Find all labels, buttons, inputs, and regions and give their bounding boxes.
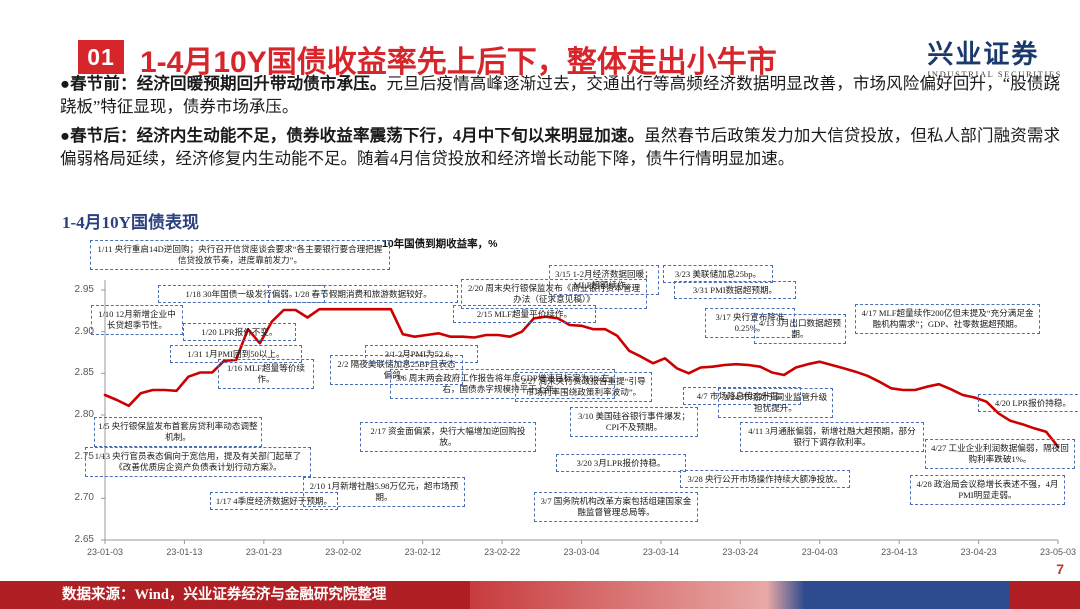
chart-annotation-box: 1/11 央行重启14D逆回购；央行召开信贷座谈会要求“各主要银行要合理把握信贷… xyxy=(90,240,390,270)
y-axis-tick-label: 2.80 xyxy=(60,409,94,420)
chart-annotation-box: 1/10 12月新增企业中长贷超季节性。 xyxy=(91,305,183,335)
chart-area: 2.652.702.752.802.852.902.9523-01-0323-0… xyxy=(60,232,1060,572)
chart-annotation-box: 4/20 LPR报价持稳。 xyxy=(978,394,1080,412)
x-axis-tick-label: 23-01-13 xyxy=(149,547,219,557)
x-axis-tick-label: 23-03-24 xyxy=(705,547,775,557)
y-axis-tick-label: 2.90 xyxy=(60,326,94,337)
x-axis-tick-label: 23-01-23 xyxy=(229,547,299,557)
paragraph-2-bold: 经济内生动能不足，债券收益率震荡下行，4月中下旬以来明显加速。 xyxy=(137,126,645,145)
chart-annotation-box: 3/20 3月LPR报价持稳。 xyxy=(556,454,686,472)
chart-annotation-box: 3/28 央行公开市场操作持续大额净投放。 xyxy=(680,470,850,488)
chart-annotation-box: 3/31 PMI数据超预期。 xyxy=(674,281,796,299)
paragraph-2-label: ●春节后： xyxy=(60,126,137,145)
chart-annotation-box: 4/13 3月出口数据超预期。 xyxy=(754,314,846,344)
chart-annotation-box: 1/5 央行银保监发布首套房贷利率动态调整机制。 xyxy=(94,417,262,447)
chart-annotation-box: 2/17 资金面偏紧，央行大幅增加逆回购投放。 xyxy=(360,422,536,452)
chart-annotation-box: 1/16 MLF超量等价续作。 xyxy=(218,359,314,389)
chart-annotation-box: 2/10 1月新增社融5.98万亿元，超市场预期。 xyxy=(303,477,465,507)
chart-annotation-box: 1/28 春节假期消费和旅游数据较好。 xyxy=(268,285,458,303)
x-axis-tick-label: 23-03-04 xyxy=(547,547,617,557)
paragraph-1-label: ●春节前： xyxy=(60,74,137,93)
x-axis-tick-label: 23-04-03 xyxy=(785,547,855,557)
chart-annotation-box: 3/7 国务院机构改革方案包括组建国家金融监督管理总局等。 xyxy=(534,492,698,522)
x-axis-tick-label: 23-05-03 xyxy=(1023,547,1080,557)
y-axis-tick-label: 2.95 xyxy=(60,284,94,295)
chart-annotation-box: 3/15 1-2月经济数据回暖；MLF超额续作。 xyxy=(549,265,659,295)
footer-accent-stripe xyxy=(470,581,1010,609)
chart-annotation-box: 3/10 美国硅谷银行事件爆发；CPI不及预期。 xyxy=(570,407,698,437)
paragraph-1-bold: 经济回暖预期回升带动债市承压。 xyxy=(137,74,387,93)
source-note: 数据来源：Wind，兴业证券经济与金融研究院整理 xyxy=(62,583,386,604)
chart-subtitle: 1-4月10Y国债表现 xyxy=(62,208,199,233)
x-axis-tick-label: 23-04-13 xyxy=(864,547,934,557)
y-axis-tick-label: 2.65 xyxy=(60,534,94,545)
paragraph-before-spring-festival: ●春节前：经济回暖预期回升带动债市承压。元旦后疫情高峰逐渐过去，交通出行等高频经… xyxy=(60,72,1060,119)
x-axis-tick-label: 23-02-02 xyxy=(308,547,378,557)
chart-annotation-box: 4/28 政治局会议稳增长表述不强，4月PMI明显走弱。 xyxy=(910,475,1065,505)
y-axis-tick-label: 2.70 xyxy=(60,492,94,503)
x-axis-tick-label: 23-03-14 xyxy=(626,547,696,557)
x-axis-tick-label: 23-02-12 xyxy=(388,547,458,557)
chart-annotation-box: 3/24 市场对于同业监管升级担忧提升。 xyxy=(718,388,833,418)
chart-annotation-box: 1/20 LPR报价不变。 xyxy=(183,323,296,341)
chart-annotation-box: 3/1 2月PMI为52.6。 xyxy=(365,345,478,363)
chart-annotation-box: 1/13 央行官员表态偏向于宽信用，提及有关部门起草了《改善优质房企资产负债表计… xyxy=(85,447,311,477)
page-number: 7 xyxy=(1056,561,1064,577)
x-axis-tick-label: 23-04-23 xyxy=(944,547,1014,557)
x-axis-tick-label: 23-02-22 xyxy=(467,547,537,557)
chart-annotation-box: 4/27 工业企业利润数据偏弱，隔夜回购利率跌破1%。 xyxy=(925,439,1075,469)
slide-header: 01 1-4月10Y国债收益率先上后下，整体走出小牛市 兴业证券 INDUSTR… xyxy=(0,18,1080,64)
y-axis-tick-label: 2.85 xyxy=(60,367,94,378)
chart-annotation-box: 4/17 MLF超量续作200亿但未提及“充分满足金融机构需求”；GDP、社零数… xyxy=(855,304,1040,334)
logo-company-name-cn: 兴业证券 xyxy=(927,41,1062,67)
paragraph-after-spring-festival: ●春节后：经济内生动能不足，债券收益率震荡下行，4月中下旬以来明显加速。虽然春节… xyxy=(60,124,1060,171)
chart-annotation-box: 2/27 周末央行货政报告重提“引导市场利率围绕政策利率波动”。 xyxy=(515,372,652,402)
chart-annotation-box: 4/11 3月通胀偏弱，新增社融大超预期，部分银行下调存款利率。 xyxy=(740,422,924,452)
x-axis-tick-label: 23-01-03 xyxy=(70,547,140,557)
section-number-badge: 01 xyxy=(78,40,124,74)
